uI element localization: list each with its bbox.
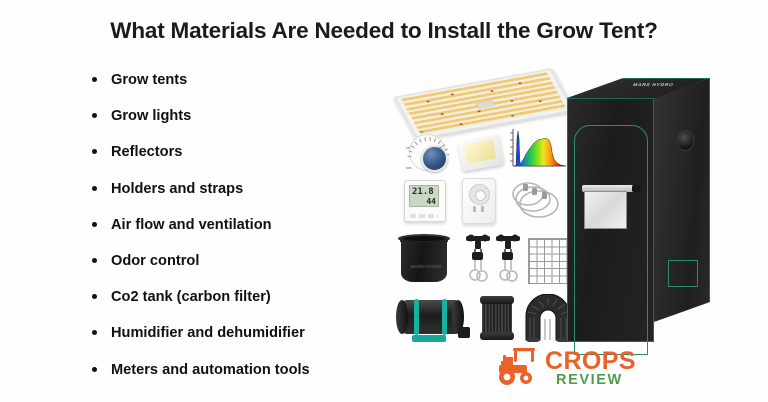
list-item-label: Meters and automation tools	[111, 362, 310, 378]
infographic-page: What Materials Are Needed to Install the…	[0, 0, 768, 402]
list-item: Reflectors	[88, 134, 408, 170]
logo-secondary-text: REVIEW	[556, 372, 623, 388]
fabric-pot-body: MARS HYDRO	[401, 238, 447, 282]
bullet-dot	[92, 113, 97, 118]
timer-dial[interactable]	[469, 184, 490, 205]
list-item-label: Humidifier and dehumidifier	[111, 325, 305, 341]
duct-clamps-image	[506, 178, 568, 222]
fan-inlet	[396, 300, 408, 334]
bullet-dot	[92, 330, 97, 335]
dimmer-min-label: MIN	[406, 166, 412, 170]
tent-side-access-panel	[668, 260, 698, 287]
grow-tent-image: MARS HYDRO	[567, 78, 710, 342]
ratchet-hangers-image	[464, 232, 522, 288]
inline-duct-fan-image	[392, 296, 470, 342]
carbon-filter-cap-top	[480, 296, 514, 304]
dimmer-max-label: MAX	[432, 166, 439, 170]
fan-accent-ring	[442, 299, 447, 335]
bullet-dot	[92, 367, 97, 372]
spectrum-curve	[514, 131, 566, 166]
fan-mount-foot	[412, 335, 446, 342]
fabric-pot-rim	[398, 234, 450, 243]
bullet-dot	[92, 149, 97, 154]
fabric-pot-image: MARS HYDRO	[398, 232, 450, 284]
thermo-buttons[interactable]	[410, 214, 438, 218]
list-item: Air flow and ventilation	[88, 207, 408, 243]
tent-brand-label: MARS HYDRO	[632, 83, 675, 88]
tent-zipper-outline	[574, 125, 648, 355]
tent-view-window	[584, 191, 627, 229]
spectrum-chart-image	[506, 126, 568, 174]
list-item: Grow tents	[88, 62, 408, 98]
thermo-lcd-display: 21.8 44	[409, 185, 439, 207]
thermo-hygrometer-image: 21.8 44	[404, 180, 446, 222]
list-item-label: Air flow and ventilation	[111, 217, 272, 233]
dimmer-tick-label: 75	[438, 146, 441, 150]
tractor-icon-svg	[493, 346, 551, 386]
carbon-filter-cap-bottom	[480, 332, 514, 340]
list-item: Odor control	[88, 243, 408, 279]
tent-vent-port-icon	[677, 130, 694, 151]
list-item: Grow lights	[88, 98, 408, 134]
list-item-label: Grow lights	[111, 108, 191, 124]
list-item-label: Holders and straps	[111, 181, 243, 197]
dimmer-knob-ring	[409, 134, 446, 171]
carbon-filter-image	[480, 296, 514, 342]
bullet-dot	[92, 294, 97, 299]
timer-socket	[471, 206, 486, 216]
duct-clamps-svg	[506, 178, 568, 222]
timer-outlet-image	[462, 178, 496, 224]
led-chip-image	[458, 135, 505, 172]
list-item: Humidifier and dehumidifier	[88, 315, 408, 351]
bullet-dot	[92, 258, 97, 263]
dimmer-tick-label: 50	[420, 130, 423, 134]
fan-accent-ring	[414, 299, 419, 335]
dimmer-tick-label: 25	[406, 146, 409, 150]
page-title: What Materials Are Needed to Install the…	[0, 18, 768, 44]
list-item-label: Grow tents	[111, 72, 187, 88]
fabric-pot-brand: MARS HYDRO	[411, 264, 441, 269]
tractor-icon	[493, 346, 551, 386]
list-item-label: Odor control	[111, 253, 199, 269]
dimmer-knob-image: 50 25 75 MIN MAX	[404, 130, 450, 176]
materials-list: Grow tents Grow lights Reflectors Holder…	[88, 62, 408, 388]
spectrum-chart-svg	[506, 126, 568, 174]
list-item-label: Reflectors	[111, 144, 182, 160]
ratchet-hangers-svg	[464, 232, 522, 288]
logo-primary-text: CROPS	[545, 348, 636, 374]
bullet-dot	[92, 186, 97, 191]
list-item-label: Co2 tank (carbon filter)	[111, 289, 271, 305]
crops-review-logo[interactable]: CROPS REVIEW	[493, 344, 635, 392]
list-item: Meters and automation tools	[88, 352, 408, 388]
list-item: Co2 tank (carbon filter)	[88, 279, 408, 315]
bullet-dot	[92, 77, 97, 82]
tent-front-panel	[567, 98, 654, 342]
bullet-dot	[92, 222, 97, 227]
humidity-reading: 44	[412, 197, 436, 206]
fan-speed-controller[interactable]	[458, 327, 470, 338]
list-item: Holders and straps	[88, 171, 408, 207]
temperature-reading: 21.8	[412, 187, 436, 197]
